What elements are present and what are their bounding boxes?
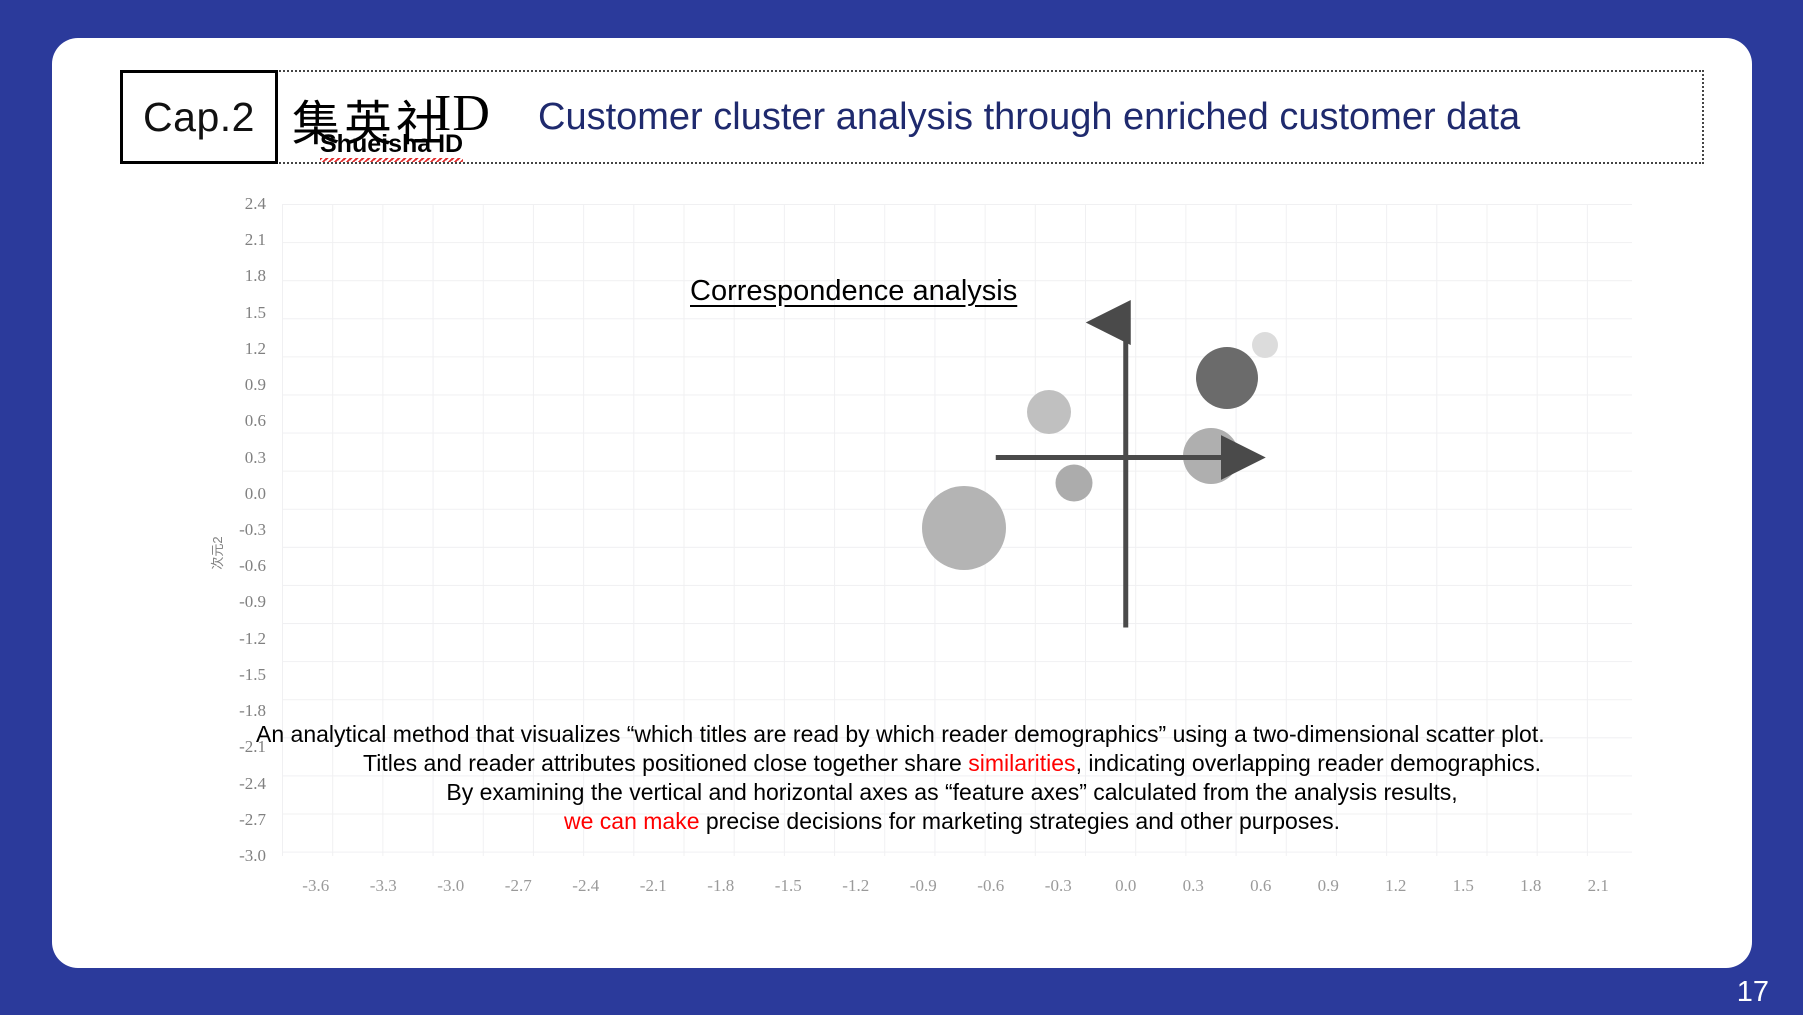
- x-axis-tick-label: 1.2: [1366, 876, 1426, 896]
- x-axis-tick-label: -1.2: [826, 876, 886, 896]
- x-axis-tick-label: 0.0: [1096, 876, 1156, 896]
- chapter-badge-label: Cap.2: [143, 94, 255, 141]
- page-title: Customer cluster analysis through enrich…: [538, 96, 1520, 139]
- line2-highlight: similarities: [968, 750, 1075, 776]
- x-axis-tick-label: 0.3: [1163, 876, 1223, 896]
- x-axis-tick-label: -3.0: [421, 876, 481, 896]
- x-axis-tick-label: 1.5: [1433, 876, 1493, 896]
- x-axis-tick-label: -1.5: [758, 876, 818, 896]
- y-axis-tick-label: 2.4: [192, 194, 266, 214]
- y-axis-tick-label: -0.9: [192, 592, 266, 612]
- line2-part-b: , indicating overlapping reader demograp…: [1076, 750, 1541, 776]
- line4-part-b: precise decisions for marketing strategi…: [700, 808, 1341, 834]
- y-axis-tick-label: 0.3: [192, 448, 266, 468]
- y-axis-tick-label: 0.9: [192, 375, 266, 395]
- x-axis-tick-label: -0.3: [1028, 876, 1088, 896]
- chapter-badge: Cap.2: [120, 70, 278, 164]
- y-axis-tick-label: -1.5: [192, 665, 266, 685]
- x-axis-tick-label: -3.3: [353, 876, 413, 896]
- x-axis-tick-label: 0.6: [1231, 876, 1291, 896]
- x-axis-tick-label: -3.6: [286, 876, 346, 896]
- logo-romanized-text: Shueisha ID: [320, 130, 463, 162]
- y-axis-tick-label: 0.0: [192, 484, 266, 504]
- header-dotted-frame: 集英社 ID Shueisha ID Customer cluster anal…: [276, 70, 1704, 164]
- line2-part-a: Titles and reader attributes positioned …: [363, 750, 968, 776]
- x-axis-tick-label: -2.1: [623, 876, 683, 896]
- y-axis-tick-label: 1.2: [192, 339, 266, 359]
- slide-header: Cap.2 集英社 ID Shueisha ID Customer cluste…: [120, 70, 1704, 164]
- shueisha-id-logo: 集英社 ID Shueisha ID: [290, 72, 522, 162]
- description-block: An analytical method that visualizes “wh…: [192, 720, 1712, 836]
- description-line-2: Titles and reader attributes positioned …: [192, 749, 1712, 778]
- x-axis-tick-label: -2.4: [556, 876, 616, 896]
- x-axis-tick-label: -0.6: [961, 876, 1021, 896]
- line4-highlight: we can make: [564, 808, 700, 834]
- description-line-4: we can make precise decisions for market…: [192, 807, 1712, 836]
- description-line-1: An analytical method that visualizes “wh…: [256, 720, 1712, 749]
- description-line-3: By examining the vertical and horizontal…: [192, 778, 1712, 807]
- x-axis-tick-label: 1.8: [1501, 876, 1561, 896]
- x-axis-tick-label: -1.8: [691, 876, 751, 896]
- y-axis-tick-label: 1.5: [192, 303, 266, 323]
- y-axis-tick-label: 0.6: [192, 411, 266, 431]
- y-axis-tick-label: -3.0: [192, 846, 266, 866]
- x-axis-tick-label: 0.9: [1298, 876, 1358, 896]
- x-axis-tick-label: -2.7: [488, 876, 548, 896]
- page-number: 17: [1737, 976, 1769, 1009]
- y-axis-tick-label: 1.8: [192, 266, 266, 286]
- y-axis-tick-label: -1.8: [192, 701, 266, 721]
- x-axis-tick-label: -0.9: [893, 876, 953, 896]
- y-axis-tick-label: -1.2: [192, 629, 266, 649]
- y-axis-tick-label: -0.6: [192, 556, 266, 576]
- chart-caption: Correspondence analysis: [690, 275, 1017, 308]
- y-axis-tick-label: -0.3: [192, 520, 266, 540]
- y-axis-tick-label: 2.1: [192, 230, 266, 250]
- x-axis-tick-label: 2.1: [1568, 876, 1628, 896]
- slide-card: Cap.2 集英社 ID Shueisha ID Customer cluste…: [52, 38, 1752, 968]
